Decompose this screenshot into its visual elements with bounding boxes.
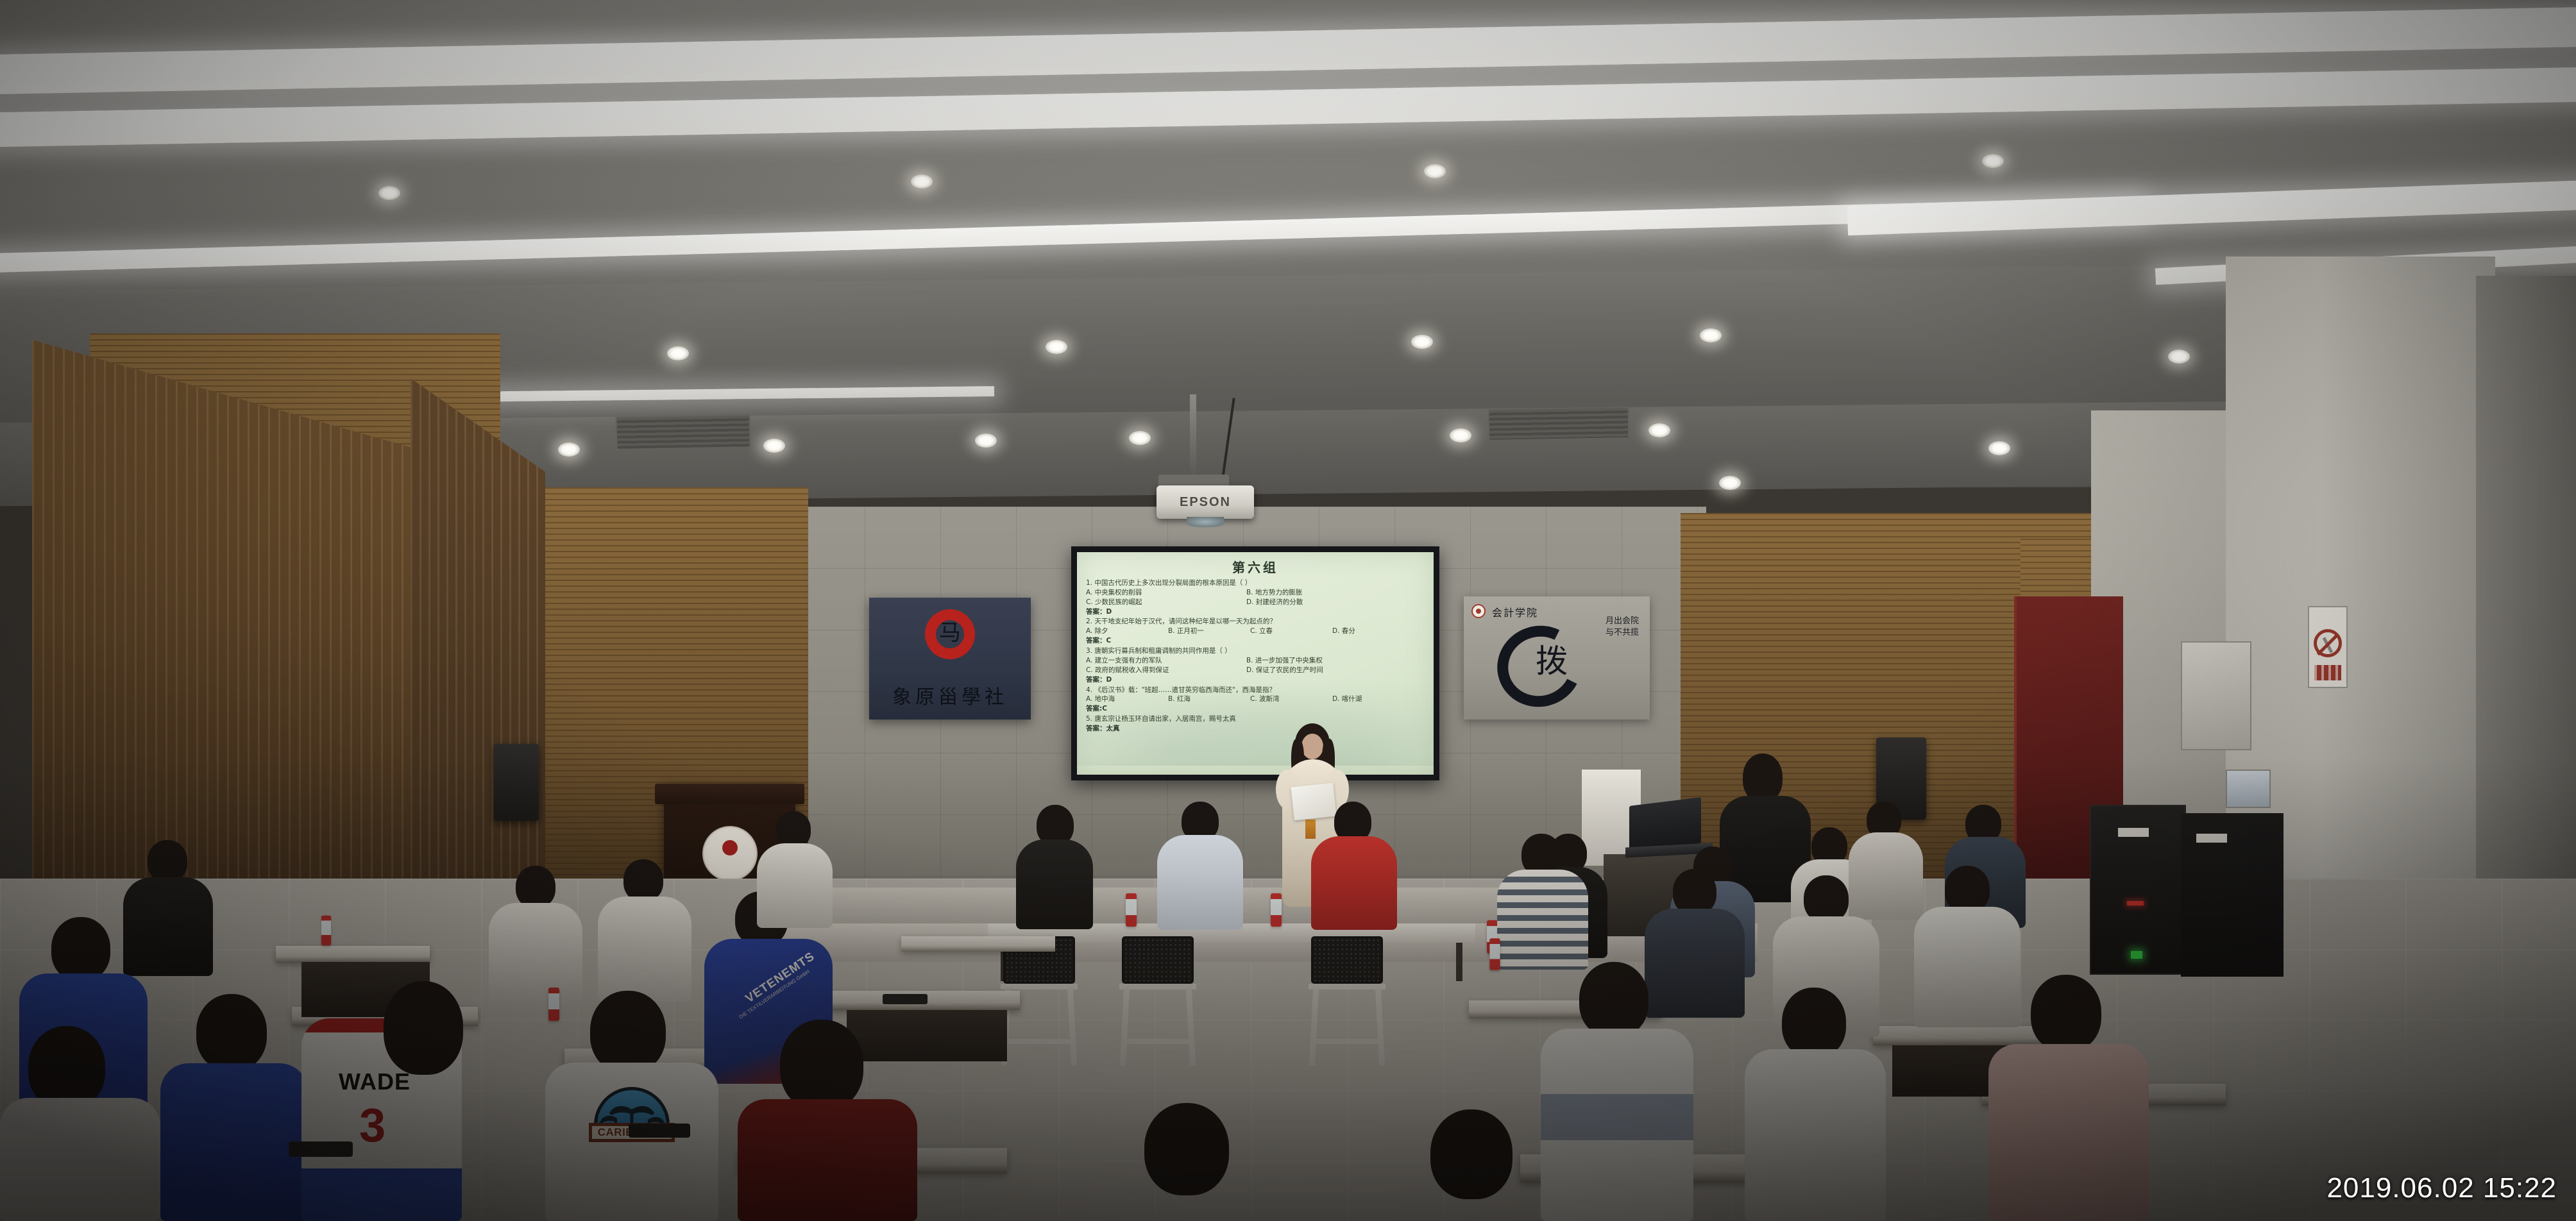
projection-screen-frame: 第六组 1. 中国古代历史上多次出现分裂局面的根本原因是（ ） A. 中央集权的…: [1071, 546, 1439, 780]
person-head: [590, 991, 666, 1073]
banner-right-vertical-text: 月出会院 与不共揽: [1605, 616, 1640, 638]
student-desk: [901, 936, 1055, 952]
student-seated-foreground: [1379, 1109, 1572, 1221]
slide-option: C. 立春: [1250, 627, 1332, 636]
slide-answer: 答案：太真: [1086, 724, 1426, 734]
slide-options-row: A. 除夕 B. 正月初一 C. 立春 D. 春分: [1086, 627, 1426, 636]
downlight: [378, 186, 400, 200]
person-head: [51, 917, 110, 981]
no-smoking-sign-label: [2314, 665, 2341, 680]
projector: EPSON: [1157, 485, 1254, 519]
slide-question: 4. 《后汉书》载："班超……遣甘英穷临西海而还"，西海是指？: [1086, 686, 1426, 695]
student-seated-foreground: [160, 994, 308, 1221]
ceiling-vent: [1488, 407, 1630, 441]
water-bottle: [1271, 893, 1282, 927]
chair-leg: [1375, 988, 1385, 1066]
slide-body: 1. 中国古代历史上多次出现分裂局面的根本原因是（ ） A. 中央集权的削弱 B…: [1077, 576, 1434, 734]
person-head: [384, 981, 463, 1075]
slide-options-row: C. 政府的赋税收入得到保证 D. 保证了农民的生产时间: [1086, 666, 1426, 675]
judge-seated: [1155, 802, 1244, 930]
slide-option: C. 波斯湾: [1250, 695, 1332, 704]
chair-leg: [1309, 988, 1319, 1066]
downlight: [1648, 423, 1670, 437]
person-torso: [0, 1098, 160, 1221]
slide-option: B. 地方势力的膨胀: [1246, 588, 1302, 598]
slide-option: C. 少数民族的崛起: [1086, 598, 1246, 607]
person-head: [516, 866, 555, 908]
calligraphy-banner-right: 会計学院 拨 月出会院 与不共揽: [1464, 596, 1650, 720]
slide-answer: 答案:C: [1086, 704, 1426, 714]
status-led-red: [2127, 901, 2144, 905]
person-head: [1782, 988, 1846, 1058]
person-head: [1579, 962, 1648, 1038]
downlight: [1046, 340, 1067, 354]
student-seated: [757, 811, 834, 927]
downlight: [763, 439, 785, 453]
downlight: [1982, 154, 2004, 168]
downlight: [1988, 441, 2010, 455]
banner-left-text: 象原甾學社: [869, 681, 1031, 709]
student-seated-foreground: [1988, 975, 2149, 1221]
downlight: [1129, 431, 1151, 445]
smartphone[interactable]: [289, 1141, 353, 1157]
jersey-name-text: WADE: [339, 1068, 411, 1095]
slide-options-row: A. 建立一支强有力的军队 B. 进一步加强了中央集权: [1086, 656, 1426, 666]
person-torso: [757, 843, 833, 928]
banner-right-brush-char: 拨: [1536, 645, 1568, 677]
downlight: [975, 434, 997, 448]
student-desk: [276, 946, 430, 963]
person-torso: [1157, 835, 1243, 930]
folding-chair[interactable]: [1119, 936, 1196, 1068]
slide-option: D. 封建经济的分散: [1246, 598, 1303, 607]
table-leg: [1456, 943, 1462, 981]
downlight: [1700, 328, 1722, 342]
electrical-panel: [2226, 770, 2271, 808]
projection-screen: 第六组 1. 中国古代历史上多次出现分裂局面的根本原因是（ ） A. 中央集权的…: [1077, 552, 1434, 775]
slide-option: D. 喀什湖: [1332, 695, 1414, 704]
slide-option: D. 春分: [1332, 627, 1414, 636]
university-seal-icon: [702, 826, 758, 881]
downlight: [1450, 428, 1471, 442]
person-torso: [598, 897, 691, 1002]
smartphone[interactable]: [883, 994, 928, 1004]
rack-label: [2196, 834, 2227, 843]
slide-title: 第六组: [1077, 557, 1434, 576]
person-torso: [1016, 839, 1093, 929]
person-head: [1430, 1109, 1513, 1199]
downlight: [1424, 164, 1446, 178]
projector-mount: [1190, 394, 1196, 478]
water-bottle: [1126, 893, 1137, 927]
student-seated: [487, 866, 584, 1007]
person-torso: [1311, 836, 1397, 930]
presenter-face: [1301, 734, 1323, 759]
slide-question: 2. 天干地支纪年始于汉代，请问这种纪年是以哪一天为起点的？: [1086, 617, 1426, 627]
folding-chair[interactable]: [1309, 936, 1385, 1068]
chair-rail: [1309, 984, 1385, 989]
person-torso: [160, 1063, 308, 1221]
status-led-green: [2131, 951, 2142, 959]
slide-answer: 答案：C: [1086, 636, 1426, 646]
smartphone[interactable]: [629, 1124, 690, 1138]
slide-option: A. 中央集权的削弱: [1086, 588, 1246, 598]
slide-option: C. 政府的赋税收入得到保证: [1086, 666, 1246, 675]
banner-right-org: 会計学院: [1492, 604, 1538, 619]
student-seated-foreground: CARIBBEAN: [545, 991, 718, 1221]
school-logo-icon: [1471, 604, 1486, 618]
club-banner-left: 马 象原甾學社: [869, 598, 1031, 720]
slide-option: B. 红海: [1168, 695, 1250, 704]
photo-timestamp: 2019.06.02 15:22: [2326, 1172, 2557, 1204]
chair-crossbar: [1003, 1039, 1075, 1044]
person-head: [780, 1020, 863, 1111]
student-seated-foreground: [0, 1026, 160, 1221]
projector-bracket: [1158, 475, 1229, 486]
student-seated-foreground: [1090, 1103, 1283, 1221]
slide-options-row: A. 地中海 B. 红海 C. 波斯湾 D. 喀什湖: [1086, 695, 1426, 704]
slide-question: 5. 唐玄宗让杨玉环自请出家，入居南宫，赐号太真: [1086, 714, 1426, 724]
person-head: [1945, 866, 1990, 913]
person-head: [28, 1026, 105, 1109]
downlight: [667, 346, 689, 360]
person-head: [1743, 754, 1783, 802]
judge-seated: [1309, 802, 1398, 930]
equipment-rack: [2181, 813, 2284, 977]
person-head: [2031, 975, 2101, 1052]
slide-option: A. 建立一支强有力的军队: [1086, 656, 1246, 666]
slide-question: 1. 中国古代历史上多次出现分裂局面的根本原因是（ ）: [1086, 578, 1426, 588]
projector-brand-label: EPSON: [1180, 495, 1231, 510]
rack-label: [2118, 828, 2149, 837]
person-torso: [1497, 870, 1588, 970]
ceiling-vent: [616, 414, 751, 450]
person-head: [623, 859, 663, 902]
slide-answer: 答案：D: [1086, 607, 1426, 618]
chair-crossbar: [1122, 1039, 1194, 1044]
slide-question: 3. 唐朝实行募兵制和租庸调制的共同作用是（ ）: [1086, 646, 1426, 656]
student-seated-foreground: [1745, 988, 1886, 1221]
jersey-number-text: 3: [359, 1098, 386, 1152]
chair-leg: [1067, 988, 1077, 1066]
slide-answer: 答案：D: [1086, 675, 1426, 686]
slide-option: B. 正月初一: [1168, 627, 1250, 636]
slide-options-row: A. 中央集权的削弱 B. 地方势力的膨胀: [1086, 588, 1426, 598]
water-bottle: [1489, 938, 1500, 970]
person-head: [1804, 875, 1849, 923]
slide-option: A. 地中海: [1086, 695, 1168, 704]
emblem-glyph: 马: [939, 622, 961, 644]
slide-option: A. 除夕: [1086, 627, 1168, 636]
no-smoking-sign: [2308, 606, 2348, 688]
classroom-photo: EPSON 第六组 1. 中国古代历史上多次出现分裂局面的根本原因是（ ） A.…: [0, 0, 2576, 1221]
person-torso: [1745, 1049, 1886, 1221]
student-seated: [597, 859, 693, 1000]
water-bottle: [548, 988, 559, 1021]
student-seated-foreground: WADE 3: [301, 981, 462, 1221]
slide-option: D. 保证了农民的生产时间: [1246, 666, 1323, 675]
student-seated-foreground: [738, 1020, 917, 1221]
person-head: [148, 840, 187, 882]
chair-rail: [1119, 984, 1196, 989]
electrical-panel: [2181, 641, 2251, 750]
judge-seated: [1012, 805, 1096, 927]
chair-back: [1122, 936, 1194, 984]
lectern-top: [655, 784, 804, 804]
water-bottle: [321, 916, 331, 946]
downlight: [2168, 349, 2190, 364]
slide-options-row: C. 少数民族的崛起 D. 封建经济的分散: [1086, 598, 1426, 607]
chair-crossbar: [1311, 1039, 1383, 1044]
chair-leg: [1120, 988, 1130, 1066]
projector-lens: [1187, 517, 1224, 527]
downlight: [1719, 476, 1741, 490]
downlight: [911, 174, 933, 189]
chair-rail: [1001, 984, 1078, 989]
wall-speaker: [494, 744, 539, 821]
chair-back: [1311, 936, 1383, 984]
person-head: [196, 994, 267, 1071]
person-torso: [738, 1099, 917, 1221]
equipment-rack: [2090, 805, 2186, 975]
downlight: [558, 442, 580, 457]
person-torso: [1988, 1044, 2149, 1221]
downlight: [1411, 335, 1433, 349]
slide-option: B. 进一步加强了中央集权: [1246, 656, 1323, 666]
person-head: [1144, 1103, 1229, 1195]
chair-leg: [1186, 988, 1196, 1066]
student-seated: [1495, 834, 1591, 968]
